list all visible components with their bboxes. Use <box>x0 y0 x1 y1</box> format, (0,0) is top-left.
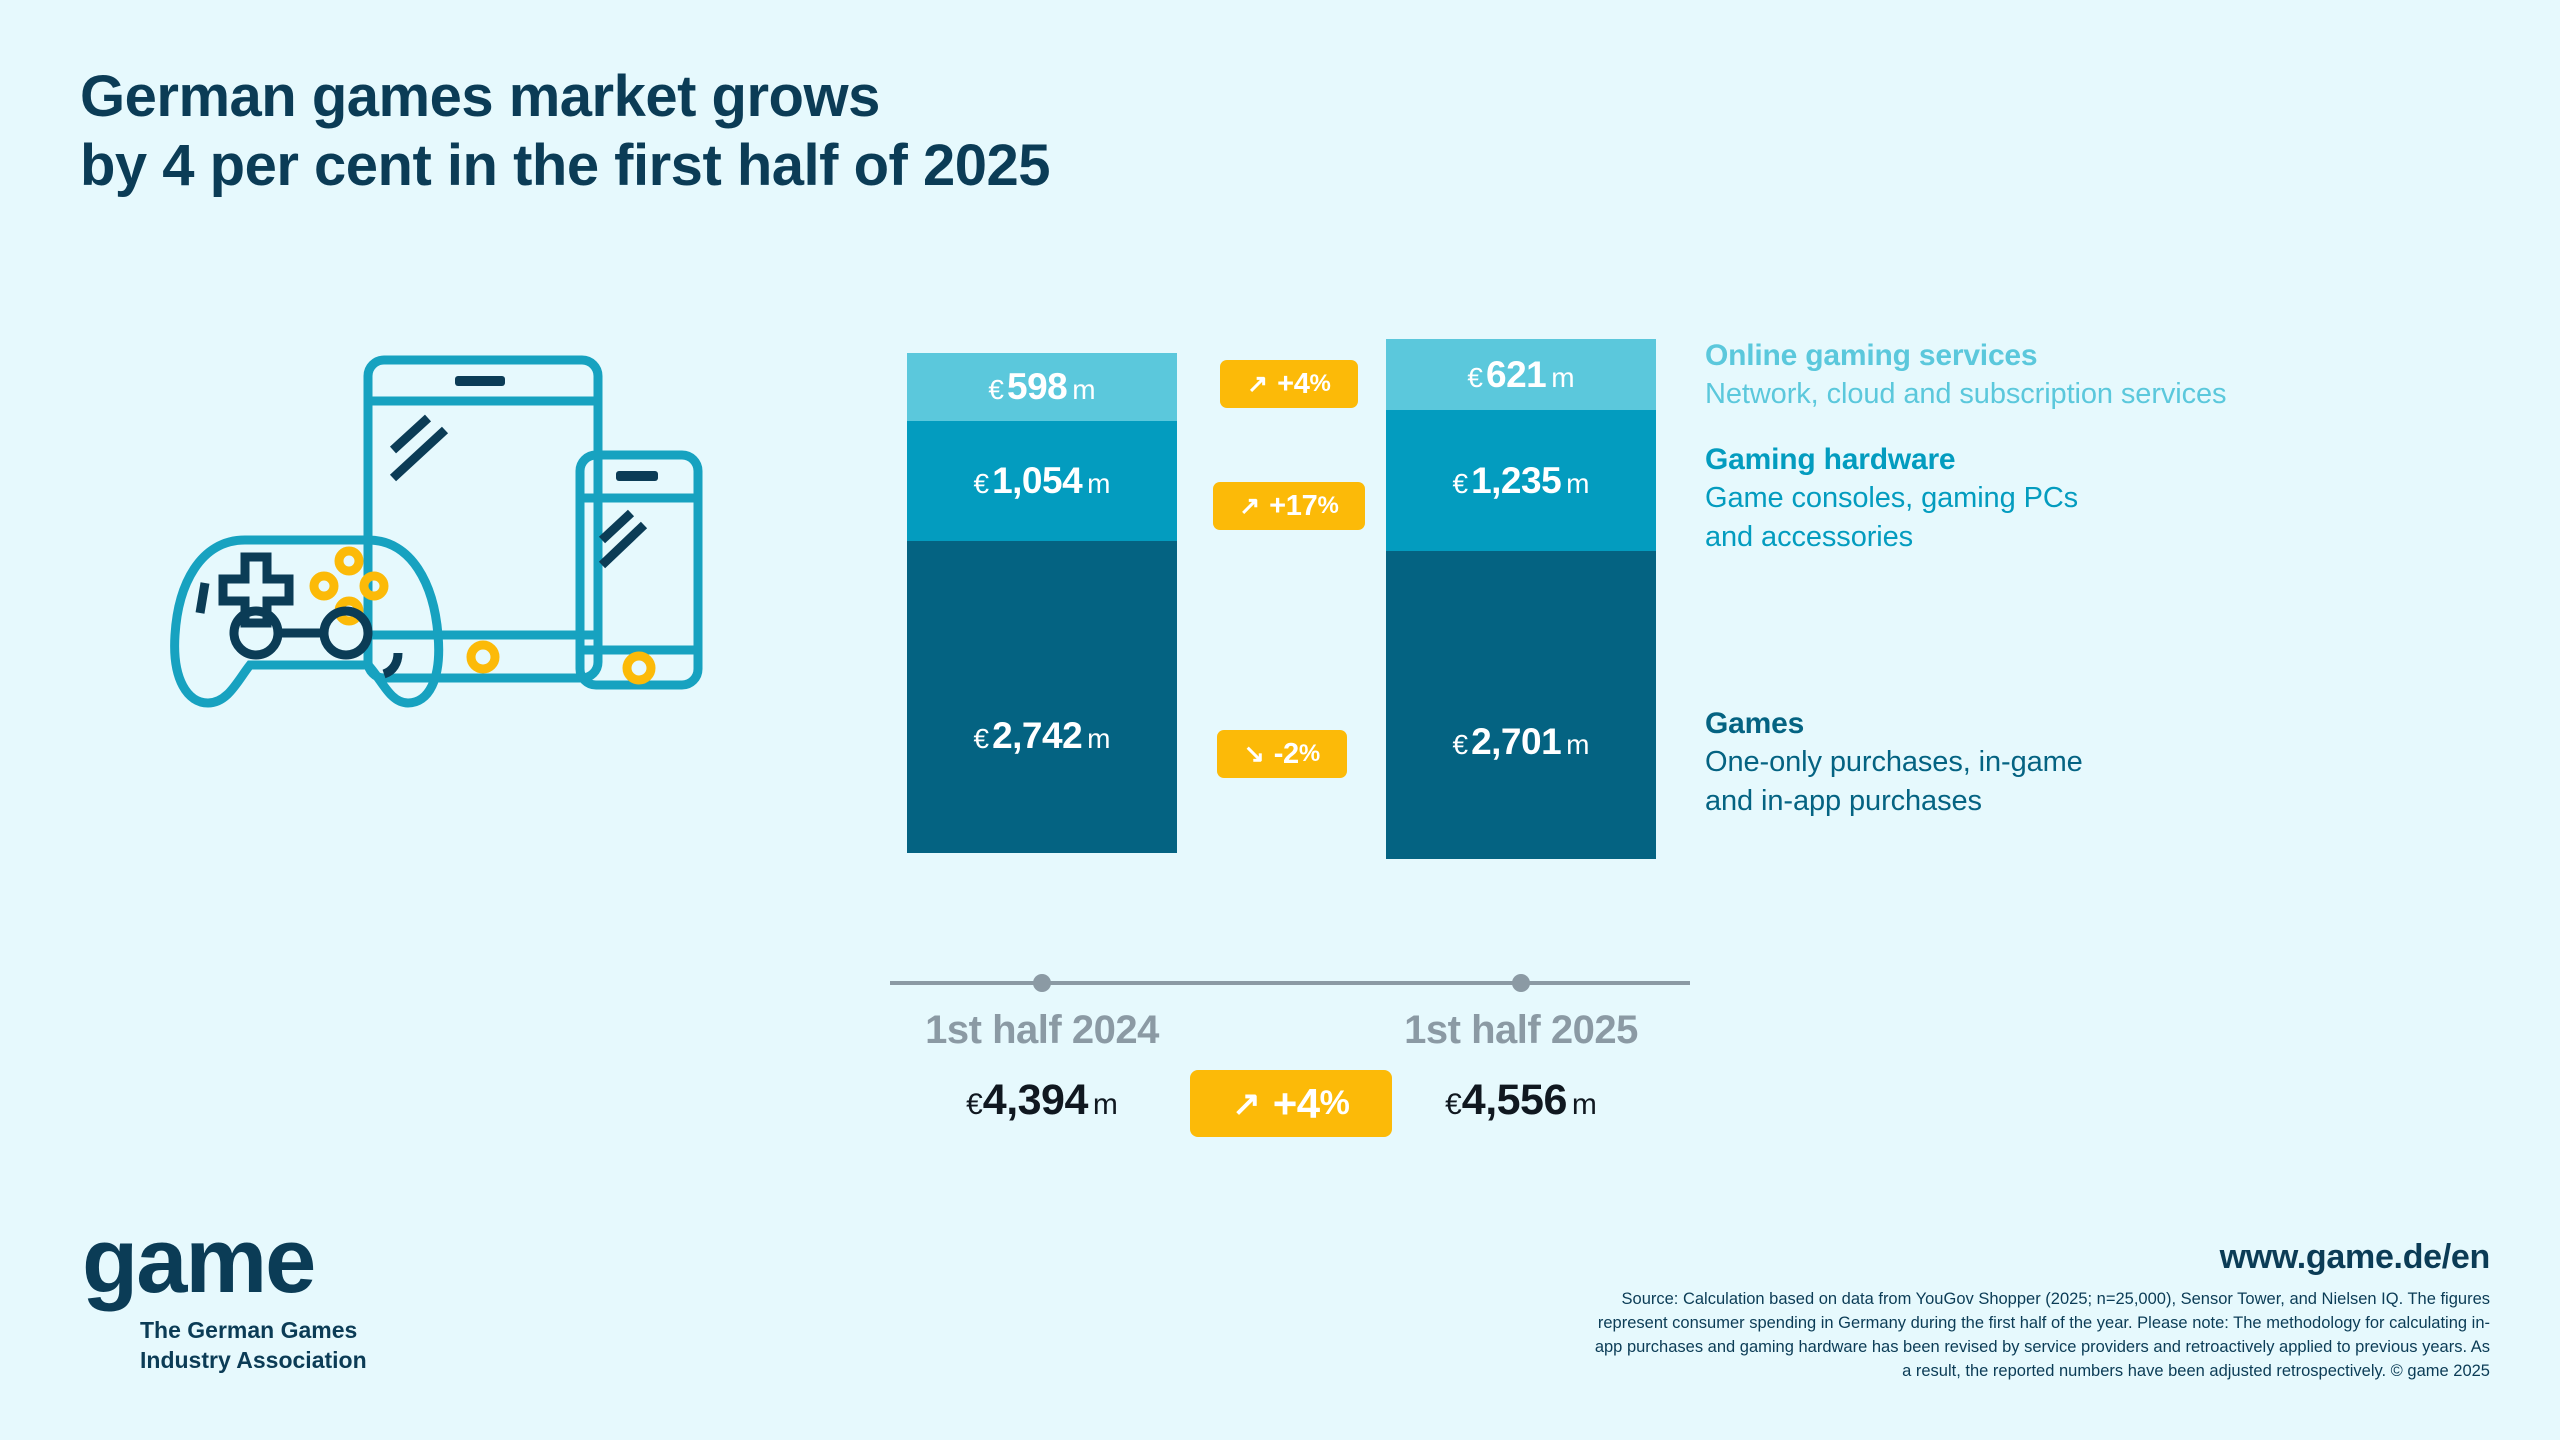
logo-subtitle-line1: The German Games <box>140 1315 412 1345</box>
change-badge-games: ↘ -2% <box>1217 730 1347 778</box>
arrow-up-icon: ↗ <box>1239 494 1260 519</box>
arrow-up-icon: ↗ <box>1232 1087 1261 1121</box>
legend-item-gaming-hardware: Gaming hardware Game consoles, gaming PC… <box>1705 440 2078 556</box>
legend-title-online: Online gaming services <box>1705 336 2226 375</box>
total-value-2025: €4,556m <box>1386 1076 1656 1125</box>
bar-column-2024: €598m €1,054m €2,742m <box>907 330 1177 853</box>
axis-line <box>890 981 1690 985</box>
bar-column-2025: €621m €1,235m €2,701m <box>1386 330 1656 859</box>
title-line-1: German games market grows <box>80 62 1480 131</box>
arrow-down-icon: ↘ <box>1244 742 1265 767</box>
arrow-up-icon: ↗ <box>1247 372 1268 397</box>
website-url[interactable]: www.game.de/en <box>2220 1238 2490 1277</box>
legend-desc-hardware-line1: Game consoles, gaming PCs <box>1705 479 2078 518</box>
source-note: Source: Calculation based on data from Y… <box>1590 1288 2490 1384</box>
legend-item-online-gaming-services: Online gaming services Network, cloud an… <box>1705 336 2226 414</box>
legend-desc-online-line1: Network, cloud and subscription services <box>1705 375 2226 414</box>
bar-segment-games-2025: €2,701m <box>1386 551 1656 859</box>
stacked-bar-chart: €598m €1,054m €2,742m €621m €1,235m <box>880 330 1700 1030</box>
game-logo: game The German Games Industry Associati… <box>82 1220 412 1400</box>
axis-label-2024: 1st half 2024 <box>907 1008 1177 1053</box>
bar-segment-online-2025-label: €621m <box>1467 354 1574 396</box>
bar-segment-games-2024-label: €2,742m <box>974 715 1111 757</box>
legend-desc-games-line2: and in-app purchases <box>1705 782 2083 821</box>
logo-wordmark: game <box>82 1220 412 1303</box>
legend-title-hardware: Gaming hardware <box>1705 440 2078 479</box>
change-badge-online: ↗ +4% <box>1220 360 1358 408</box>
legend-desc-hardware-line2: and accessories <box>1705 518 2078 557</box>
tablet-icon <box>368 360 598 678</box>
title-line-2: by 4 per cent in the first half of 2025 <box>80 131 1480 200</box>
axis-dot-2024 <box>1033 974 1051 992</box>
bar-segment-hardware-2025: €1,235m <box>1386 410 1656 551</box>
legend-title-games: Games <box>1705 704 2083 743</box>
bar-segment-hardware-2024: €1,054m <box>907 421 1177 541</box>
legend-item-games: Games One-only purchases, in-game and in… <box>1705 704 2083 820</box>
change-badge-total: ↗ +4% <box>1190 1070 1392 1137</box>
page-title: German games market grows by 4 per cent … <box>80 62 1480 200</box>
logo-subtitle: The German Games Industry Association <box>140 1315 412 1376</box>
axis-label-2025: 1st half 2025 <box>1386 1008 1656 1053</box>
axis-dot-2025 <box>1512 974 1530 992</box>
bar-segment-online-2024-label: €598m <box>988 366 1095 408</box>
bar-segment-games-2025-label: €2,701m <box>1453 721 1590 763</box>
bar-segment-hardware-2025-label: €1,235m <box>1453 460 1590 502</box>
legend-desc-games-line1: One-only purchases, in-game <box>1705 743 2083 782</box>
bar-segment-hardware-2024-label: €1,054m <box>974 460 1111 502</box>
change-badge-hardware: ↗ +17% <box>1213 482 1365 530</box>
gamepad-tablet-phone-illustration <box>150 335 720 715</box>
bar-segment-online-2025: €621m <box>1386 339 1656 410</box>
bar-segment-online-2024: €598m <box>907 353 1177 421</box>
totals-row: €4,394m ↗ +4% €4,556m <box>880 1070 1700 1140</box>
total-value-2024: €4,394m <box>907 1076 1177 1125</box>
bar-segment-games-2024: €2,742m <box>907 541 1177 853</box>
logo-subtitle-line2: Industry Association <box>140 1345 412 1375</box>
